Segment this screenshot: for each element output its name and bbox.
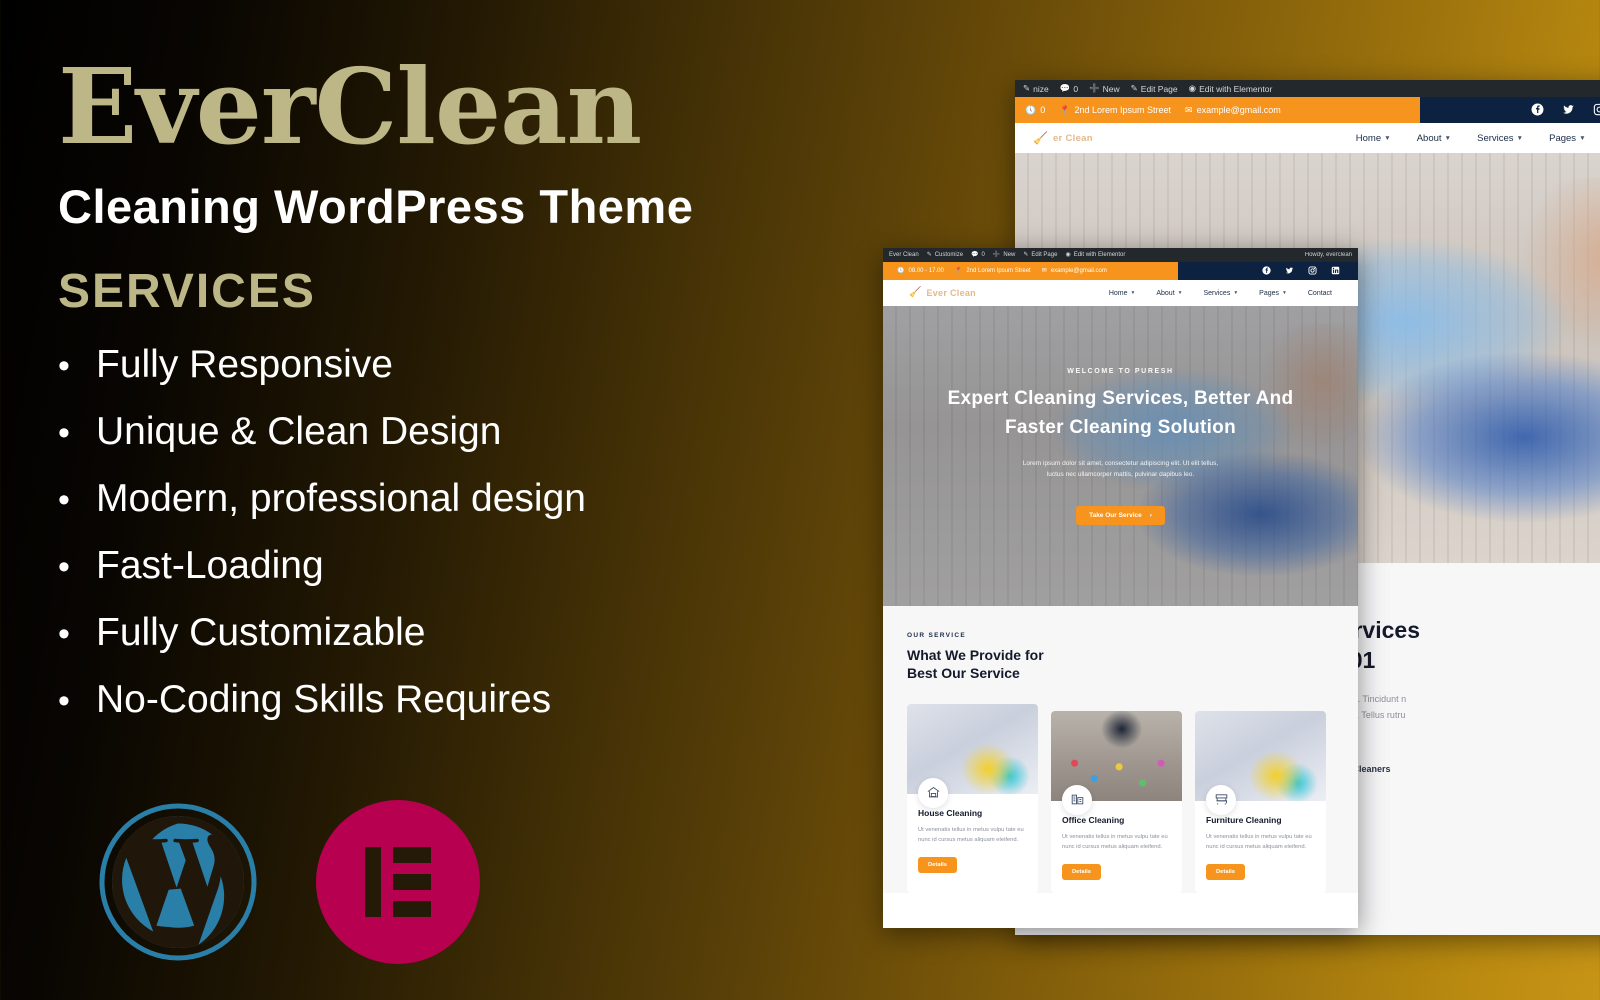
- site-logo[interactable]: 🧹 er Clean: [1033, 132, 1093, 144]
- nav-item-home[interactable]: Home▼: [1109, 290, 1136, 297]
- feature-label: Fully Customizable: [96, 613, 425, 652]
- service-card-title: Furniture Cleaning: [1206, 815, 1315, 825]
- main-navigation[interactable]: Home▼ About▼ Services▼ Pages▼ Contact: [1109, 290, 1332, 297]
- nav-item-about[interactable]: About▼: [1417, 133, 1451, 144]
- elementor-icon: ◉: [1065, 252, 1070, 258]
- instagram-icon[interactable]: [1593, 103, 1600, 118]
- hero-desc-line2: luctus nec ullamcorper mattis, pulvinar …: [883, 469, 1358, 480]
- list-item: •No-Coding Skills Requires: [58, 680, 900, 719]
- admin-bar-edit-page[interactable]: ✎ Edit Page: [1023, 252, 1057, 258]
- service-card-title: Office Cleaning: [1062, 815, 1171, 825]
- chevron-down-icon: ▼: [1579, 135, 1586, 142]
- pencil-icon: ✎: [1023, 252, 1028, 258]
- feature-label: Fast-Loading: [96, 546, 324, 585]
- hero-title-line1: Expert Cleaning Services, Better And: [883, 385, 1358, 414]
- nav-item-home[interactable]: Home▼: [1356, 133, 1391, 144]
- chevron-down-icon: ▼: [1282, 291, 1287, 296]
- details-button[interactable]: Details: [1206, 864, 1245, 880]
- feature-label: Unique & Clean Design: [96, 412, 501, 451]
- location-pin-icon: 📍: [1059, 106, 1070, 115]
- details-button[interactable]: Details: [1062, 864, 1101, 880]
- facebook-icon[interactable]: [1531, 103, 1544, 118]
- admin-bar-site-name[interactable]: Ever Clean: [889, 252, 919, 258]
- admin-bar-edit-with-elementor[interactable]: ◉ Edit with Elementor: [1189, 84, 1273, 94]
- plus-icon: ➕: [1089, 84, 1100, 93]
- service-card-title: House Cleaning: [918, 808, 1027, 818]
- hero-desc-line1: Lorem ipsum dolor sit amet, consectetur …: [883, 458, 1358, 469]
- hero-eyebrow: WELCOME TO PURESH: [883, 368, 1358, 375]
- service-cards: House Cleaning Ut venenatis tellus in me…: [907, 704, 1334, 893]
- admin-bar-new[interactable]: ➕ New: [993, 252, 1016, 258]
- services-heading: SERVICES: [58, 264, 900, 319]
- feature-label: Fully Responsive: [96, 345, 393, 384]
- feature-label: No-Coding Skills Requires: [96, 680, 551, 719]
- list-item: •Unique & Clean Design: [58, 412, 900, 451]
- instagram-icon[interactable]: [1308, 266, 1317, 277]
- bullet-dot: •: [58, 617, 96, 651]
- elementor-logo-icon: [316, 800, 480, 964]
- chevron-right-icon: ›: [1150, 512, 1152, 519]
- envelope-icon: ✉: [1185, 106, 1193, 115]
- admin-bar-new[interactable]: ➕ New: [1089, 84, 1120, 94]
- admin-bar-comments[interactable]: 💬 0: [1060, 84, 1078, 94]
- topbar-address: 📍 2nd Lorem Ipsum Street: [955, 268, 1031, 274]
- main-navigation[interactable]: Home▼ About▼ Services▼ Pages▼ Conta: [1356, 133, 1600, 144]
- facebook-icon[interactable]: [1262, 266, 1271, 277]
- feature-label: Modern, professional design: [96, 479, 586, 518]
- list-item: •Fully Responsive: [58, 345, 900, 384]
- site-header: 🧹 er Clean Home▼ About▼ Services▼ Pages▼…: [1015, 123, 1600, 153]
- admin-bar-customize[interactable]: ✎ Customize: [927, 252, 963, 258]
- admin-bar-edit-page[interactable]: ✎ Edit Page: [1131, 84, 1178, 94]
- pencil-icon: ✎: [1023, 84, 1030, 93]
- comment-icon: 💬: [1060, 84, 1071, 93]
- pencil-icon: ✎: [1131, 84, 1138, 93]
- admin-bar-edit-with-elementor[interactable]: ◉ Edit with Elementor: [1065, 252, 1125, 258]
- browser-mockups: ✎ nize 💬 0 ➕ New ✎ Edit Page ◉ Edit w: [880, 0, 1600, 1000]
- service-card-text: Ut venenatis tellus in metus vulpu tate …: [918, 825, 1027, 845]
- wp-admin-bar[interactable]: ✎ nize 💬 0 ➕ New ✎ Edit Page ◉ Edit w: [1015, 80, 1600, 97]
- topbar-email[interactable]: ✉ example@gmail.com: [1185, 105, 1281, 115]
- admin-bar-customize[interactable]: ✎ nize: [1023, 84, 1049, 94]
- hero-title-line2: Faster Cleaning Solution: [883, 414, 1358, 443]
- site-header: 🧹 Ever Clean Home▼ About▼ Services▼ Page…: [883, 280, 1358, 306]
- site-topbar: 🕔 08.00 - 17.00 📍 2nd Lorem Ipsum Street…: [883, 262, 1358, 280]
- twitter-icon[interactable]: [1285, 266, 1294, 277]
- house-cleaning-icon: [918, 778, 948, 808]
- technology-logos: [96, 800, 480, 964]
- bullet-dot: •: [58, 684, 96, 718]
- elementor-icon: ◉: [1189, 84, 1196, 93]
- service-card-text: Ut venenatis tellus in metus vulpu tate …: [1206, 832, 1315, 852]
- bullet-dot: •: [58, 416, 96, 450]
- location-pin-icon: 📍: [955, 268, 962, 274]
- services-feature-list: •Fully Responsive •Unique & Clean Design…: [58, 345, 900, 719]
- wordpress-logo-icon: [96, 800, 260, 964]
- chevron-down-icon: ▼: [1384, 135, 1391, 142]
- pencil-icon: ✎: [927, 252, 932, 258]
- service-card[interactable]: Furniture Cleaning Ut venenatis tellus i…: [1195, 711, 1326, 893]
- nav-item-pages[interactable]: Pages▼: [1259, 290, 1287, 297]
- clock-icon: 🕔: [897, 268, 904, 274]
- topbar-email[interactable]: ✉ example@gmail.com: [1042, 268, 1107, 274]
- chevron-down-icon: ▼: [1178, 291, 1183, 296]
- hero-content: WELCOME TO PURESH Expert Cleaning Servic…: [883, 306, 1358, 525]
- service-card[interactable]: House Cleaning Ut venenatis tellus in me…: [907, 704, 1038, 893]
- service-title-line1: What We Provide for: [907, 647, 1334, 665]
- linkedin-icon[interactable]: [1331, 266, 1340, 277]
- bullet-dot: •: [58, 550, 96, 584]
- topbar-hours: 🕔 08.00 - 17.00: [897, 268, 944, 274]
- nav-item-services[interactable]: Services▼: [1203, 290, 1238, 297]
- topbar-hours: 🕔 0: [1025, 105, 1045, 115]
- brand-title: EverClean: [58, 52, 900, 161]
- envelope-icon: ✉: [1042, 268, 1047, 274]
- site-topbar: 🕔 0 📍 2nd Lorem Ipsum Street ✉ example@g…: [1015, 97, 1600, 123]
- nav-item-contact[interactable]: Contact: [1308, 290, 1332, 297]
- service-eyebrow: OUR SERVICE: [907, 632, 1334, 639]
- chevron-down-icon: ▼: [1445, 135, 1452, 142]
- hero-section: WELCOME TO PURESH Expert Cleaning Servic…: [883, 306, 1358, 606]
- clock-icon: 🕔: [1025, 106, 1036, 115]
- poster-subtitle: Cleaning WordPress Theme: [58, 179, 900, 234]
- list-item: •Fully Customizable: [58, 613, 900, 652]
- wp-admin-bar[interactable]: Ever Clean ✎ Customize 💬 0 ➕ New ✎ Edit …: [883, 248, 1358, 262]
- site-logo[interactable]: 🧹 Ever Clean: [909, 288, 976, 298]
- plus-icon: ➕: [993, 252, 1000, 258]
- service-card-text: Ut venenatis tellus in metus vulpu tate …: [1062, 832, 1171, 852]
- nav-item-services[interactable]: Services▼: [1477, 133, 1523, 144]
- admin-bar-howdy[interactable]: Howdy, everclean: [1305, 252, 1352, 258]
- admin-bar-comments[interactable]: 💬 0: [971, 252, 985, 258]
- chevron-down-icon: ▼: [1233, 291, 1238, 296]
- office-cleaning-icon: [1062, 785, 1092, 815]
- chevron-down-icon: ▼: [1517, 135, 1524, 142]
- twitter-icon[interactable]: [1562, 103, 1575, 118]
- list-item: •Fast-Loading: [58, 546, 900, 585]
- take-our-service-button[interactable]: Take Our Service ›: [1076, 506, 1165, 525]
- nav-item-pages[interactable]: Pages▼: [1549, 133, 1586, 144]
- details-button[interactable]: Details: [918, 857, 957, 873]
- comment-icon: 💬: [971, 252, 978, 258]
- furniture-cleaning-icon: [1206, 785, 1236, 815]
- our-service-section: OUR SERVICE What We Provide for Best Our…: [883, 606, 1358, 893]
- chevron-down-icon: ▼: [1131, 291, 1136, 296]
- service-title-line2: Best Our Service: [907, 665, 1334, 683]
- list-item: •Modern, professional design: [58, 479, 900, 518]
- browser-window-front[interactable]: Ever Clean ✎ Customize 💬 0 ➕ New ✎ Edit …: [883, 248, 1358, 928]
- bullet-dot: •: [58, 349, 96, 383]
- topbar-address: 📍 2nd Lorem Ipsum Street: [1059, 105, 1171, 115]
- broom-icon: 🧹: [1033, 132, 1048, 144]
- broom-icon: 🧹: [909, 288, 921, 298]
- nav-item-about[interactable]: About▼: [1156, 290, 1182, 297]
- bullet-dot: •: [58, 483, 96, 517]
- service-card[interactable]: Office Cleaning Ut venenatis tellus in m…: [1051, 711, 1182, 893]
